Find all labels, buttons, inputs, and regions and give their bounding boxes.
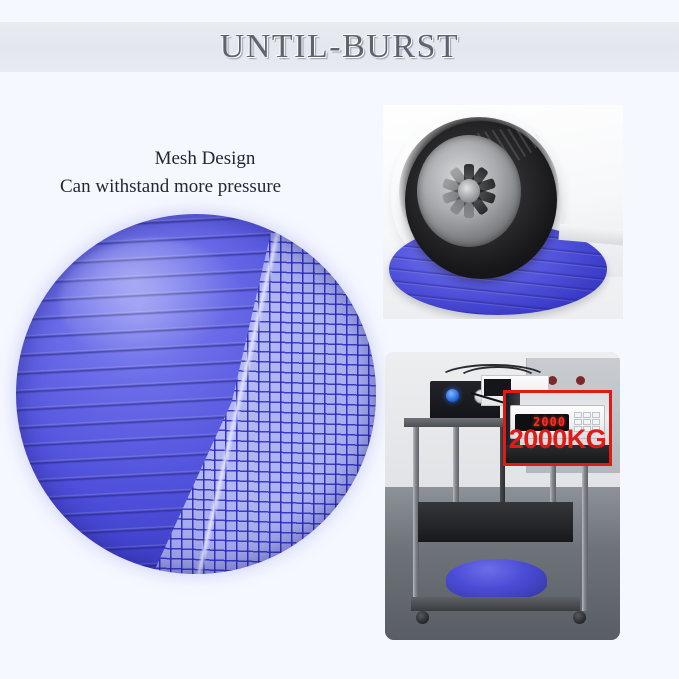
callout-leader-line bbox=[471, 392, 507, 404]
ball-body bbox=[16, 214, 376, 574]
press-plate bbox=[418, 502, 573, 542]
product-infographic-page: UNTIL-BURST Mesh Design Can withstand mo… bbox=[0, 0, 679, 679]
cabinet-knob bbox=[576, 376, 585, 385]
rig-caster bbox=[416, 611, 429, 624]
keypad-key[interactable] bbox=[574, 412, 582, 418]
load-value-label: 2000KG bbox=[506, 426, 609, 453]
photo-car-wheel-on-ball bbox=[383, 105, 623, 319]
ball-edge-shadow bbox=[16, 214, 376, 574]
feature-caption: Mesh Design Can withstand more pressure bbox=[60, 145, 350, 200]
feature-caption-line-2: Can withstand more pressure bbox=[60, 173, 350, 201]
rim-hub bbox=[458, 179, 480, 203]
rig-base-platform bbox=[411, 597, 580, 611]
exercise-ball-illustration bbox=[16, 214, 376, 574]
ball-under-press bbox=[446, 559, 547, 599]
alloy-rim bbox=[417, 135, 521, 247]
feature-caption-line-1: Mesh Design bbox=[60, 145, 350, 173]
keypad-key[interactable] bbox=[583, 412, 591, 418]
measurement-callout: 2000 2000KG bbox=[503, 390, 612, 466]
title-banner: UNTIL-BURST bbox=[0, 22, 679, 72]
keypad-key[interactable] bbox=[592, 412, 600, 418]
page-title: UNTIL-BURST bbox=[220, 28, 459, 66]
rig-leg bbox=[453, 427, 459, 513]
